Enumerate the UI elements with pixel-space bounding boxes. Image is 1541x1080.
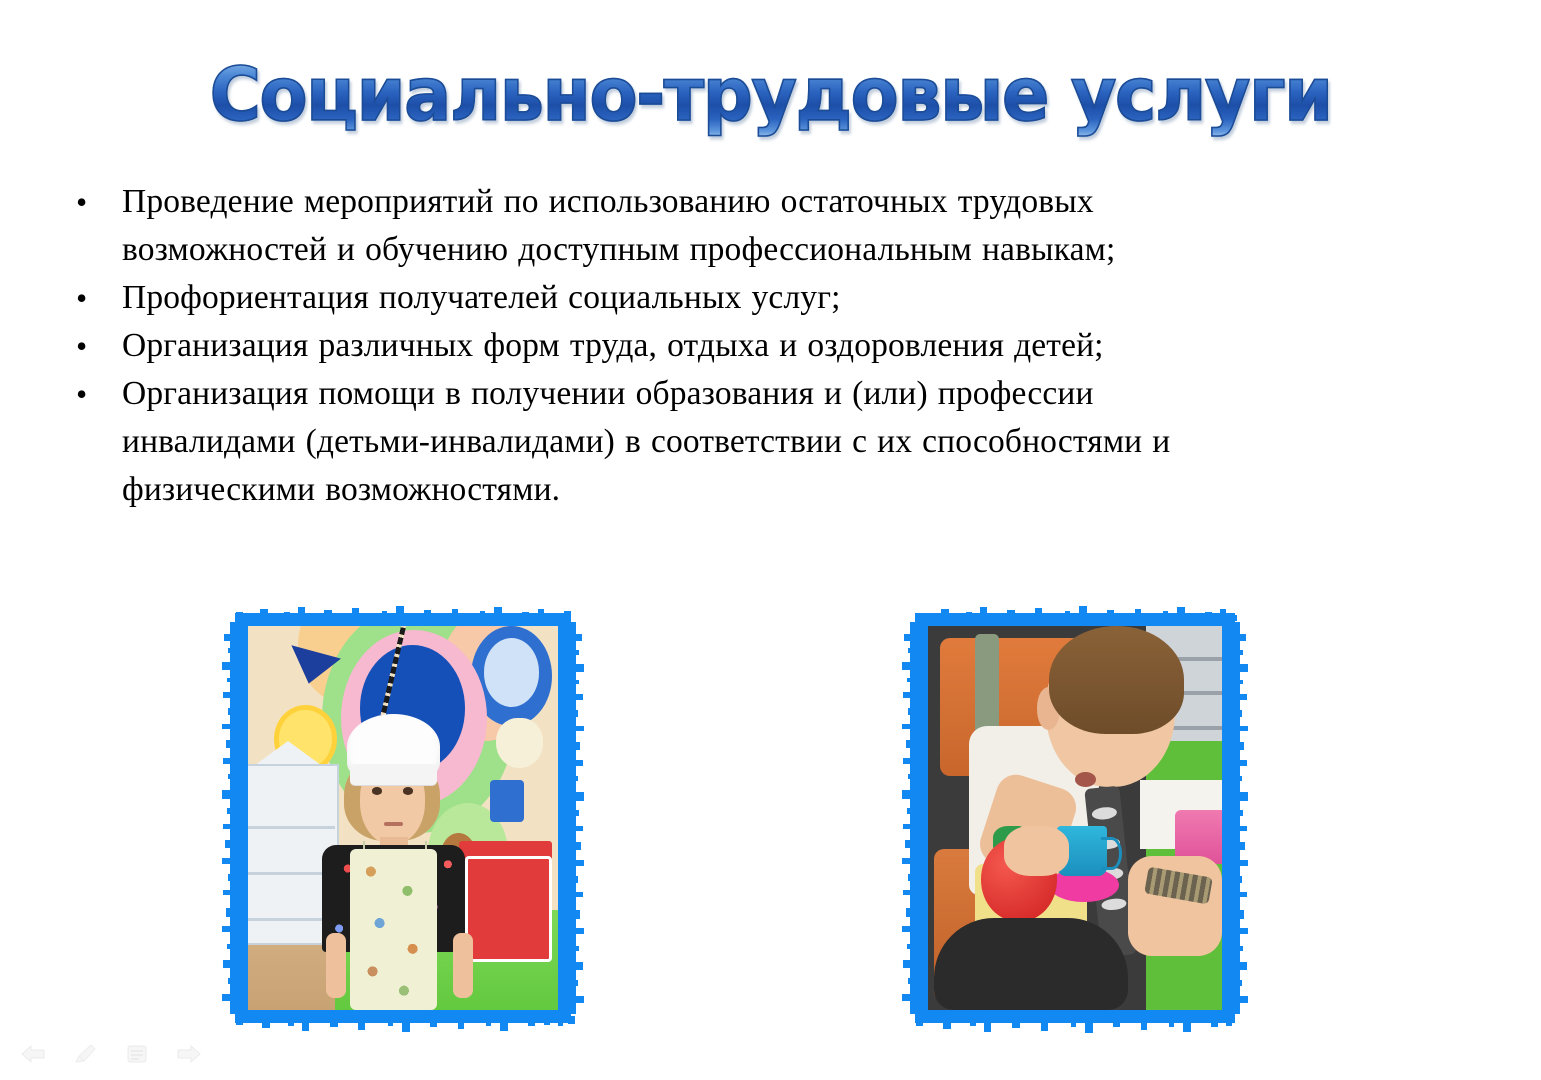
bullet-marker: •	[62, 178, 122, 226]
bullet-list: • Проведение мероприятий по использовани…	[62, 178, 1302, 514]
list-item: • Организация помощи в получении образов…	[62, 370, 1302, 514]
bullet-text: Организация различных форм труда, отдыха…	[122, 322, 1212, 370]
list-item: • Организация различных форм труда, отды…	[62, 322, 1302, 370]
bullet-text: Организация помощи в получении образован…	[122, 370, 1252, 514]
photo-child-tea-set	[915, 613, 1235, 1023]
pen-icon[interactable]	[70, 1042, 100, 1066]
bullet-marker: •	[62, 274, 122, 322]
bullet-marker: •	[62, 370, 122, 418]
slideshow-navigation-toolbar[interactable]	[18, 1042, 204, 1066]
bullet-marker: •	[62, 322, 122, 370]
photo-image-left	[248, 626, 558, 1010]
presentation-slide: Социально-трудовые услуги • Проведение м…	[0, 0, 1541, 1080]
photo-child-chef	[235, 613, 571, 1023]
menu-icon[interactable]	[122, 1042, 152, 1066]
bullet-text: Профориентация получателей социальных ус…	[122, 274, 1212, 322]
arrow-right-icon[interactable]	[174, 1042, 204, 1066]
page-title: Социально-трудовые услуги	[209, 52, 1331, 138]
slide-title-container: Социально-трудовые услуги	[0, 52, 1541, 138]
list-item: • Проведение мероприятий по использовани…	[62, 178, 1302, 274]
bullet-text: Проведение мероприятий по использованию …	[122, 178, 1212, 274]
photo-image-right	[928, 626, 1222, 1010]
list-item: • Профориентация получателей социальных …	[62, 274, 1302, 322]
arrow-left-icon[interactable]	[18, 1042, 48, 1066]
